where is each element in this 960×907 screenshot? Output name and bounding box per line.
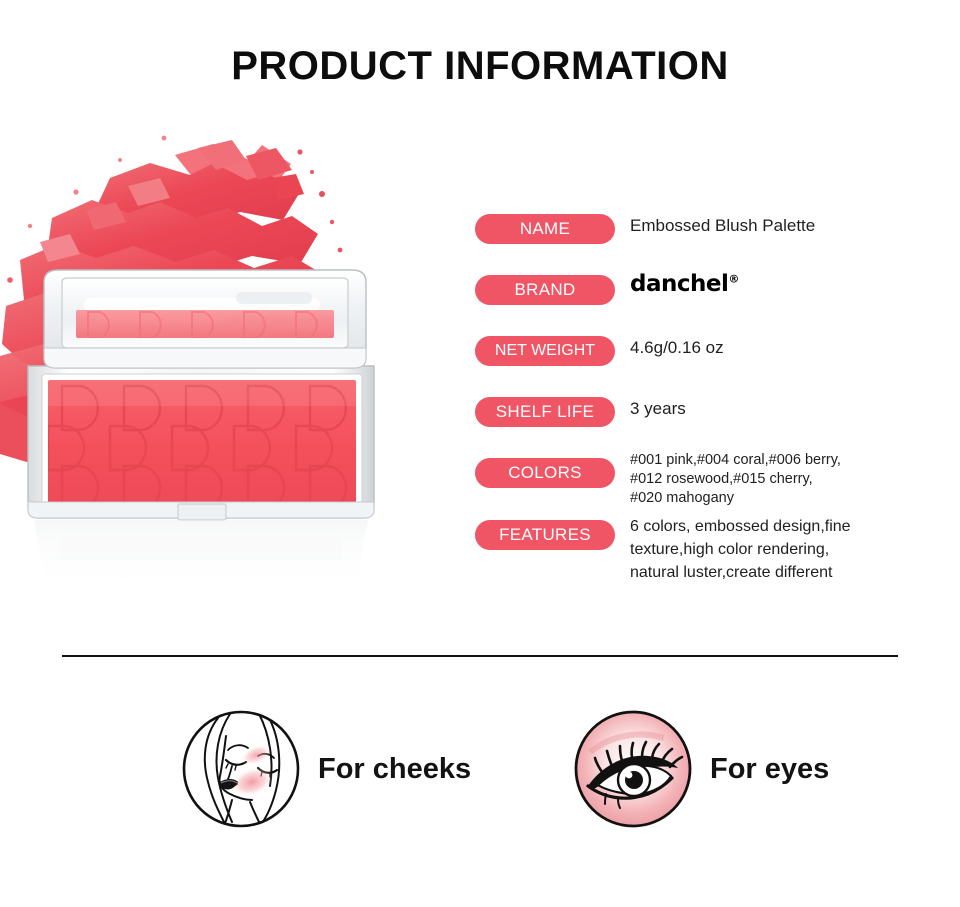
spec-label-brand: BRAND: [475, 275, 615, 305]
spec-value-features: 6 colors, embossed design,fine texture,h…: [630, 515, 851, 584]
usage-label-eyes: For eyes: [710, 753, 829, 786]
compact-lid: [44, 270, 366, 368]
spec-value-net-weight: 4.6g/0.16 oz: [630, 337, 724, 359]
spec-label-colors: COLORS: [475, 458, 615, 488]
usage-row: For cheeks: [0, 700, 960, 840]
eye-icon: [572, 708, 694, 830]
spec-value-name: Embossed Blush Palette: [630, 215, 815, 237]
spec-label-net-weight: NET WEIGHT: [475, 336, 615, 366]
usage-item-cheeks: For cheeks: [180, 708, 471, 830]
brand-logo: danchel®: [630, 271, 739, 297]
thumb-notch: [178, 504, 226, 520]
face-cheeks-icon: [180, 708, 302, 830]
usage-item-eyes: For eyes: [572, 708, 829, 830]
spec-row-net-weight: NET WEIGHT 4.6g/0.16 oz: [475, 328, 935, 389]
product-photo-svg: [0, 130, 450, 610]
spec-row-brand: BRAND danchel®: [475, 267, 935, 328]
spec-value-colors: #001 pink,#004 coral,#006 berry, #012 ro…: [630, 451, 841, 508]
spec-table: NAME Embossed Blush Palette BRAND danche…: [475, 206, 935, 582]
page-title: PRODUCT INFORMATION: [0, 44, 960, 89]
compact-reflection: [34, 520, 368, 592]
registered-trademark-icon: ®: [728, 272, 739, 285]
spec-row-name: NAME Embossed Blush Palette: [475, 206, 935, 267]
spec-row-features: FEATURES 6 colors, embossed design,fine …: [475, 512, 935, 582]
product-image: [0, 130, 450, 610]
spec-label-shelf-life: SHELF LIFE: [475, 397, 615, 427]
spec-label-name: NAME: [475, 214, 615, 244]
compact-case: [28, 366, 374, 520]
section-divider: [62, 655, 898, 657]
brand-logo-text: danchel: [630, 271, 728, 297]
spec-row-shelf-life: SHELF LIFE 3 years: [475, 389, 935, 450]
spec-row-colors: COLORS #001 pink,#004 coral,#006 berry, …: [475, 450, 935, 512]
usage-label-cheeks: For cheeks: [318, 753, 471, 786]
spec-value-shelf-life: 3 years: [630, 398, 686, 420]
spec-label-features: FEATURES: [475, 520, 615, 550]
